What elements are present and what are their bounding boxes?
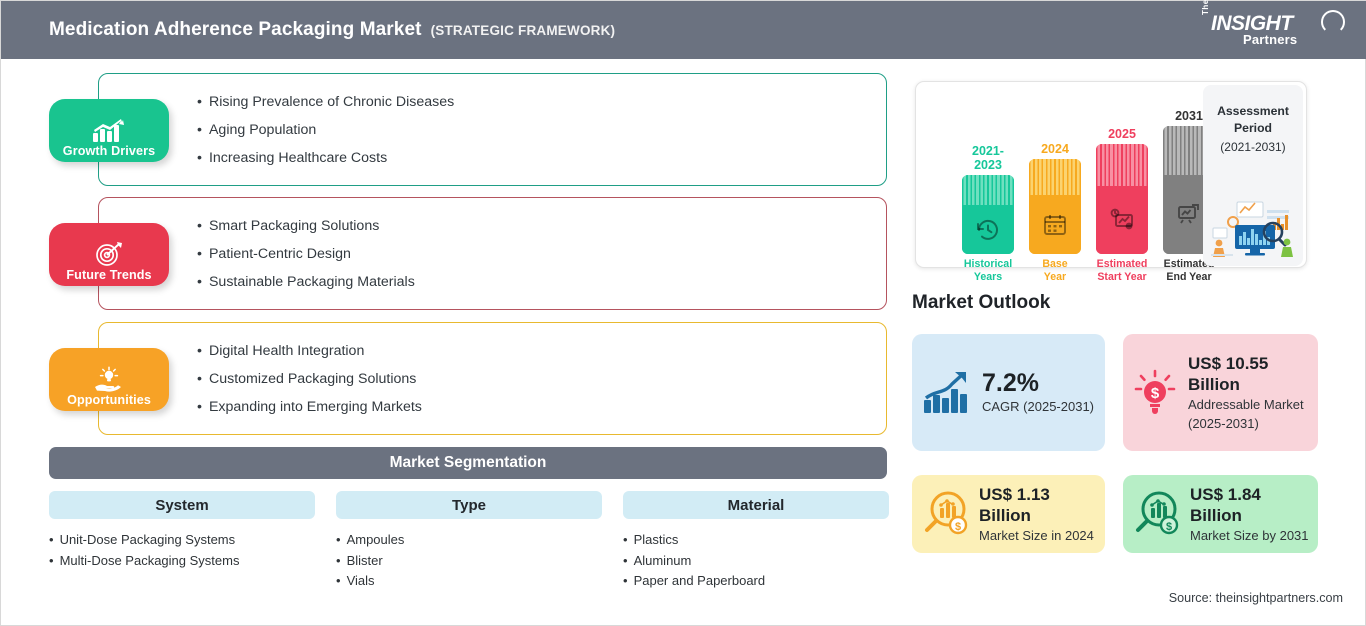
- card-label: Market Size in 2024: [979, 526, 1099, 545]
- list-item: Sustainable Packaging Materials: [197, 268, 415, 296]
- list-item: Ampoules: [336, 530, 602, 551]
- source-text: Source: theinsightpartners.com: [1169, 591, 1343, 605]
- segmentation-column-type: Type Ampoules Blister Vials: [336, 491, 602, 592]
- list-item: Aluminum: [623, 551, 889, 572]
- target-dartboard-icon: [95, 241, 123, 267]
- opportunities-list: Digital Health Integration Customized Pa…: [197, 337, 422, 422]
- card-market-size-2024[interactable]: $ US$ 1.13 Billion Market Size in 2024: [912, 475, 1105, 553]
- bar-caption: BaseYear: [1025, 258, 1085, 284]
- opportunities-box: Digital Health Integration Customized Pa…: [98, 322, 887, 435]
- svg-text:$: $: [1166, 521, 1172, 533]
- list-item: Smart Packaging Solutions: [197, 212, 415, 240]
- bar-year-label: 2024: [1029, 142, 1081, 156]
- badge-label: Growth Drivers: [63, 144, 155, 158]
- list-item: Digital Health Integration: [197, 337, 422, 365]
- badge-growth-drivers[interactable]: Growth Drivers: [49, 99, 169, 162]
- logo-the-text: The: [1201, 0, 1210, 15]
- list-item: Multi-Dose Packaging Systems: [49, 551, 315, 572]
- badge-future-trends[interactable]: Future Trends: [49, 223, 169, 286]
- list-item: Expanding into Emerging Markets: [197, 393, 422, 421]
- card-value: US$ 10.55 Billion: [1188, 353, 1308, 395]
- lightbulb-dollar-icon: $: [1131, 367, 1179, 419]
- bar-caption: EstimatedStart Year: [1092, 258, 1152, 284]
- bar-caption: HistoricalYears: [958, 258, 1018, 284]
- list-item: Paper and Paperboard: [623, 571, 889, 592]
- bar-year-label: 2025: [1096, 127, 1148, 141]
- list-item: Patient-Centric Design: [197, 240, 415, 268]
- card-value: 7.2%: [982, 369, 1097, 397]
- bar-chart-arrow-icon: [922, 370, 974, 416]
- assessment-period-panel: Assessment Period (2021-2031): [1203, 85, 1303, 266]
- bar-stripes: [962, 175, 1014, 205]
- bar-stripes: [1096, 144, 1148, 186]
- list-item: Plastics: [623, 530, 889, 551]
- card-value: US$ 1.13 Billion: [979, 484, 1099, 526]
- segmentation-column-material: Material Plastics Aluminum Paper and Pap…: [623, 491, 889, 592]
- card-market-size-2031[interactable]: $ US$ 1.84 Billion Market Size by 2031: [1123, 475, 1318, 553]
- card-label: Addressable Market (2025-2031): [1188, 395, 1308, 433]
- logo-partners-text: Partners: [1243, 32, 1297, 47]
- insight-partners-logo: The INSIGHT Partners: [1197, 9, 1347, 51]
- page-title: Medication Adherence Packaging Market: [49, 19, 422, 41]
- list-item: Unit-Dose Packaging Systems: [49, 530, 315, 551]
- history-clock-icon: [962, 205, 1014, 254]
- card-value: US$ 1.84 Billion: [1190, 484, 1312, 526]
- bar: [1096, 144, 1148, 254]
- assessment-period-title: Assessment Period: [1203, 103, 1303, 136]
- page-header: Medication Adherence Packaging Market (S…: [1, 1, 1366, 59]
- list-item: Blister: [336, 551, 602, 572]
- data-analysis-illustration: [1207, 198, 1299, 260]
- assessment-bars: 2021-2023 HistoricalYears 2024: [932, 82, 1164, 267]
- forecast-chart-icon: [1096, 186, 1148, 254]
- card-label: Market Size by 2031: [1190, 526, 1312, 545]
- list-item: Vials: [336, 571, 602, 592]
- bar-group-base: 2024 BaseYear: [1029, 159, 1081, 254]
- lightbulb-in-hand-icon: [92, 366, 126, 392]
- market-segmentation-header: Market Segmentation: [49, 447, 887, 479]
- infographic-page: Medication Adherence Packaging Market (S…: [0, 0, 1366, 626]
- assessment-period-chart: 2021-2023 HistoricalYears 2024: [915, 81, 1307, 268]
- list-item: Customized Packaging Solutions: [197, 365, 422, 393]
- assessment-period-years: (2021-2031): [1203, 140, 1303, 154]
- badge-label: Future Trends: [66, 268, 151, 282]
- bar-year-label: 2021-2023: [962, 144, 1014, 172]
- card-label: CAGR (2025-2031): [982, 397, 1097, 416]
- market-outlook-title: Market Outlook: [912, 292, 1050, 314]
- segmentation-column-title: Type: [336, 491, 602, 519]
- svg-text:$: $: [1151, 385, 1160, 402]
- list-item: Increasing Healthcare Costs: [197, 144, 454, 172]
- list-item: Aging Population: [197, 116, 454, 144]
- bar-stripes: [1029, 159, 1081, 195]
- bar-chart-growth-icon: [92, 117, 126, 143]
- magnifier-chart-dollar-icon: $: [1131, 488, 1183, 540]
- bar: [1029, 159, 1081, 254]
- bar: [962, 175, 1014, 254]
- badge-opportunities[interactable]: Opportunities: [49, 348, 169, 411]
- card-cagr[interactable]: 7.2% CAGR (2025-2031): [912, 334, 1105, 451]
- segmentation-column-system: System Unit-Dose Packaging Systems Multi…: [49, 491, 315, 571]
- list-item: Rising Prevalence of Chronic Diseases: [197, 88, 454, 116]
- svg-text:$: $: [955, 521, 961, 533]
- growth-drivers-box: Rising Prevalence of Chronic Diseases Ag…: [98, 73, 887, 186]
- segmentation-column-title: Material: [623, 491, 889, 519]
- future-trends-box: Smart Packaging Solutions Patient-Centri…: [98, 197, 887, 310]
- growth-drivers-list: Rising Prevalence of Chronic Diseases Ag…: [197, 88, 454, 173]
- future-trends-list: Smart Packaging Solutions Patient-Centri…: [197, 212, 415, 297]
- magnifier-chart-dollar-icon: $: [920, 488, 972, 540]
- calendar-icon: [1029, 195, 1081, 254]
- page-subtitle: (STRATEGIC FRAMEWORK): [431, 23, 616, 38]
- card-addressable-market[interactable]: $ US$ 10.55 Billion Addressable Market (…: [1123, 334, 1318, 451]
- bar-group-start: 2025 EstimatedStart Year: [1096, 144, 1148, 254]
- segmentation-column-title: System: [49, 491, 315, 519]
- bar-group-historical: 2021-2023 HistoricalYears: [962, 175, 1014, 254]
- badge-label: Opportunities: [67, 393, 151, 407]
- logo-arc-icon: [1321, 10, 1345, 34]
